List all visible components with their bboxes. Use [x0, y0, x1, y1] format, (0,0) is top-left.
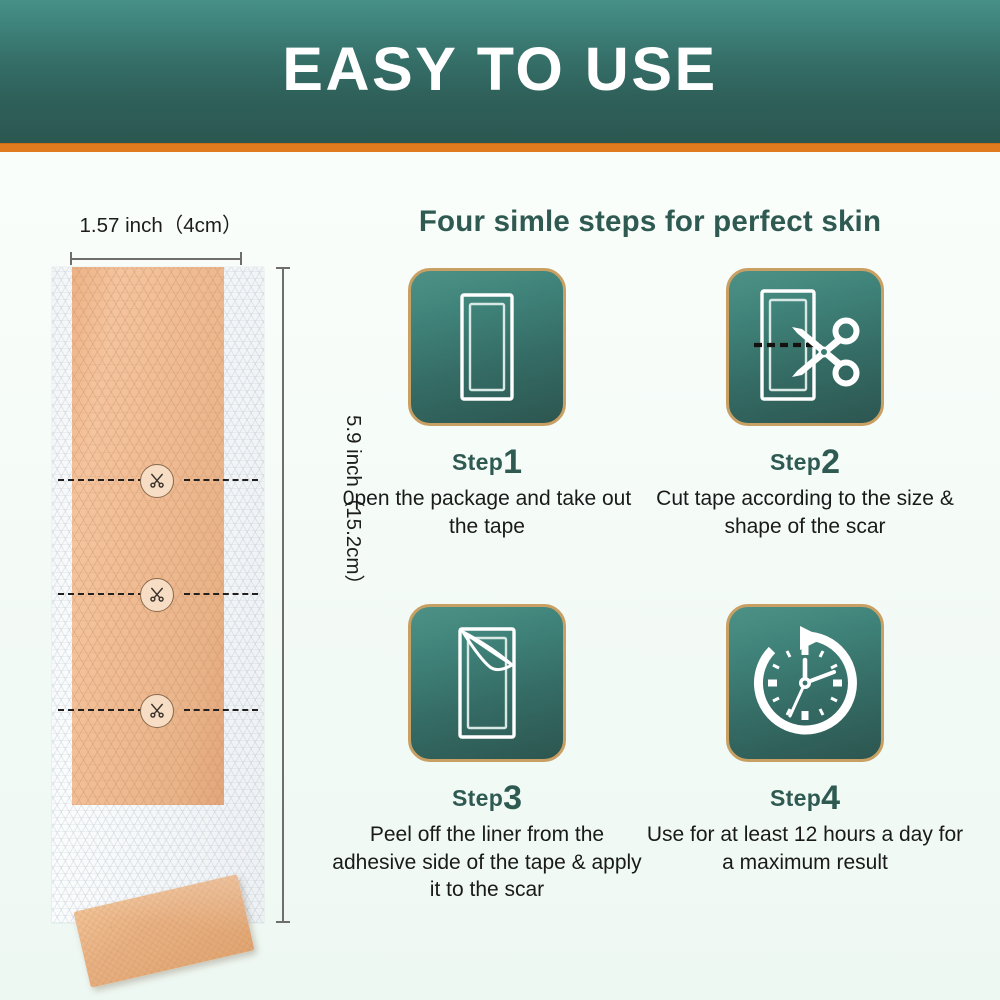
width-dimension-bar: [70, 252, 242, 264]
step-label-2: Step2: [640, 442, 970, 476]
cut-tape-piece: [73, 874, 254, 988]
infographic-page: EASY TO USE 1.57 inch（4cm） 5.9 inch（15.2…: [0, 0, 1000, 1000]
height-bar-cap-bottom: [276, 921, 290, 923]
scissors-cut-tape-icon: [726, 268, 884, 426]
step-number-3: 3: [503, 779, 522, 817]
header-banner: EASY TO USE: [0, 0, 1000, 143]
steps-grid: Step1 0pen the package and take out the …: [322, 268, 982, 928]
cut-dash-left: [58, 479, 144, 481]
cut-dash-left: [58, 593, 144, 595]
tape-package-icon: [408, 268, 566, 426]
width-bar-cap-left: [70, 252, 72, 265]
step-description-3: Peel off the liner from the adhesive sid…: [322, 821, 652, 904]
height-dimension-bar: [276, 267, 288, 923]
steps-section-title: Four simle steps for perfect skin: [330, 205, 970, 239]
step-number-4: 4: [821, 779, 840, 817]
step-card-3: Step3 Peel off the liner from the adhesi…: [322, 604, 652, 904]
step-card-4: Step4 Use for at least 12 hours a day fo…: [640, 604, 970, 876]
cut-dash-right: [184, 479, 258, 481]
cut-dash-right: [184, 709, 258, 711]
cut-line-2: [52, 578, 264, 610]
scissors-icon: [140, 694, 174, 728]
product-photo-area: 1.57 inch（4cm） 5.9 inch（15.2cm）: [0, 190, 320, 980]
width-bar-cap-right: [240, 252, 242, 265]
width-dimension-label: 1.57 inch（4cm）: [56, 208, 266, 238]
cut-line-3: [52, 694, 264, 726]
step-label-4: Step4: [640, 778, 970, 812]
step-word-4: Step: [770, 785, 821, 811]
step-label-3: Step3: [322, 778, 652, 812]
step-description-2: Cut tape according to the size & shape o…: [640, 485, 970, 540]
clock-arrow-icon: [726, 604, 884, 762]
step-card-1: Step1 0pen the package and take out the …: [322, 268, 652, 540]
step-card-2: Step2 Cut tape according to the size & s…: [640, 268, 970, 540]
cut-dash-left: [58, 709, 144, 711]
step-word-3: Step: [452, 785, 503, 811]
page-title: EASY TO USE: [282, 39, 717, 100]
step-number-1: 1: [503, 443, 522, 481]
width-bar-line: [70, 258, 242, 260]
cut-line-1: [52, 464, 264, 496]
cut-dash-right: [184, 593, 258, 595]
scissors-icon: [140, 578, 174, 612]
step-word-1: Step: [452, 449, 503, 475]
scissors-icon: [140, 464, 174, 498]
step-description-4: Use for at least 12 hours a day for a ma…: [640, 821, 970, 876]
step-number-2: 2: [821, 443, 840, 481]
height-bar-cap-top: [276, 267, 290, 269]
tape-roll-photo: [52, 267, 264, 923]
height-bar-line: [282, 267, 284, 923]
header-accent-bar: [0, 143, 1000, 152]
step-word-2: Step: [770, 449, 821, 475]
peel-liner-icon: [408, 604, 566, 762]
step-label-1: Step1: [322, 442, 652, 476]
step-description-1: 0pen the package and take out the tape: [322, 485, 652, 540]
